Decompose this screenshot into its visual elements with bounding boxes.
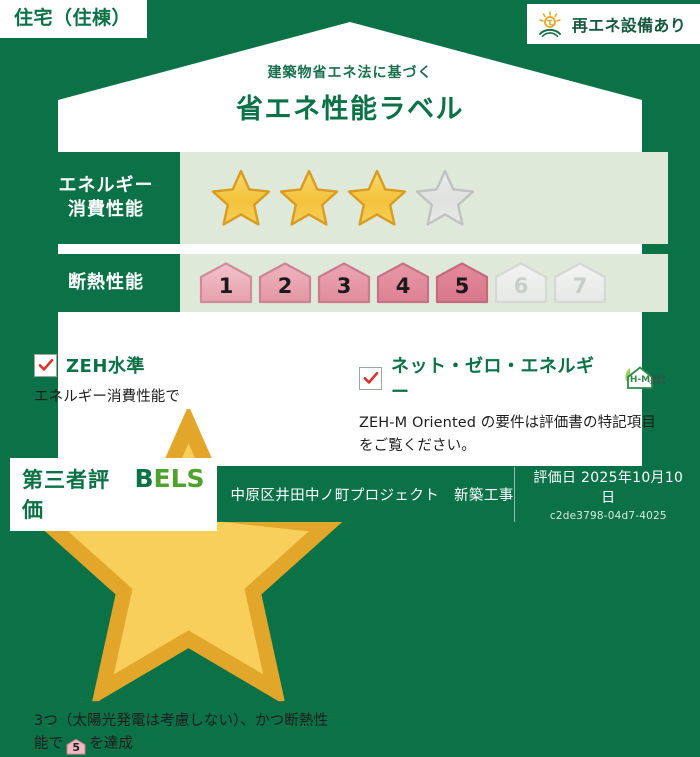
zeh-sections: ZEH水準 エネルギー消費性能で3つ（太陽光発電は考慮しない）、かつ断熱性能で5… [34, 352, 666, 757]
zeh-standard-title: ZEH水準 [66, 352, 145, 378]
row-energy-label-line1: エネルギー [59, 174, 154, 198]
insulation-house-empty: 6 [493, 261, 549, 305]
star-icon-filled [210, 168, 272, 228]
star-rating [180, 152, 668, 244]
net-zero-energy-block: ネット・ゼロ・エネルギー H-M ZEH-M Oriented ZEH-M Or… [359, 352, 666, 757]
insulation-house-empty: 7 [552, 261, 608, 305]
insulation-house-filled: 4 [375, 261, 431, 305]
star-icon-filled [346, 168, 408, 228]
net-zero-energy-title: ネット・ゼロ・エネルギー [391, 352, 611, 404]
insulation-house-filled: 2 [257, 261, 313, 305]
star-icon-filled [278, 168, 340, 228]
check-icon [34, 354, 57, 377]
zeh-standard-block: ZEH水準 エネルギー消費性能で3つ（太陽光発電は考慮しない）、かつ断熱性能で5… [34, 352, 341, 757]
heading-subtitle: 建築物省エネ法に基づく [0, 62, 700, 82]
net-zero-energy-header: ネット・ゼロ・エネルギー H-M ZEH-M Oriented [359, 352, 666, 404]
insulation-level-badge-value: 5 [65, 738, 87, 757]
net-zero-energy-description: ZEH-M Oriented の要件は評価書の特記項目をご覧ください。 [359, 412, 666, 459]
row-insulation-label-line1: 断熱性能 [68, 271, 144, 295]
renewable-energy-label: 再エネ設備あり [572, 12, 686, 36]
svg-text:H-M: H-M [630, 375, 650, 385]
insulation-house-filled: 1 [198, 261, 254, 305]
insulation-house-value: 1 [219, 276, 234, 305]
evaluation-code: c2de3798-04d7-4025 [529, 510, 688, 522]
row-energy-label: エネルギー 消費性能 [32, 152, 180, 244]
star-icon [35, 689, 342, 705]
bels-chip: 第三者評価 BELS [10, 458, 217, 531]
row-insulation-performance: 断熱性能 1234567 [32, 254, 668, 312]
evaluation-date: 評価日 2025年10月10日 [529, 467, 688, 507]
bels-logo-first: B [134, 464, 153, 493]
zeh-m-oriented-logo: H-M ZEH-M Oriented [622, 363, 666, 393]
insulation-house-value: 2 [278, 276, 293, 305]
evaluation-info: 評価日 2025年10月10日 c2de3798-04d7-4025 [514, 467, 688, 522]
energy-performance-label: 住宅（住棟） 再エネ設備あり 建築物省エネ法に基づく 省エネ性能ラベル [0, 0, 700, 522]
metric-rows: エネルギー 消費性能 断熱性能 1234567 [32, 152, 668, 322]
building-type-chip: 住宅（住棟） [0, 0, 147, 38]
insulation-level-scale: 1234567 [180, 254, 668, 312]
building-type-label: 住宅（住棟） [14, 7, 131, 29]
insulation-house-filled: 5 [434, 261, 490, 305]
heading-title: 省エネ性能ラベル [0, 87, 700, 126]
bels-logo-rest: ELS [154, 464, 205, 493]
insulation-house-value: 3 [337, 276, 352, 305]
row-energy-consumption: エネルギー 消費性能 [32, 152, 668, 244]
insulation-house-value: 6 [514, 276, 529, 305]
bels-logo: BELS [134, 464, 204, 493]
renewable-energy-badge: 再エネ設備あり [527, 4, 700, 44]
insulation-house-value: 4 [396, 276, 411, 305]
zeh-desc-part3: を達成 [89, 736, 133, 752]
star-icon-empty [414, 168, 476, 228]
row-energy-label-line2: 消費性能 [68, 198, 144, 222]
insulation-house-value: 5 [455, 276, 470, 305]
check-icon [359, 367, 382, 390]
row-insulation-label: 断熱性能 [32, 254, 180, 312]
svg-text:Oriented: Oriented [649, 380, 666, 385]
zeh-desc-part1: エネルギー消費性能で [34, 389, 180, 405]
insulation-house-filled: 3 [316, 261, 372, 305]
zeh-standard-header: ZEH水準 [34, 352, 341, 378]
zeh-standard-description: エネルギー消費性能で3つ（太陽光発電は考慮しない）、かつ断熱性能で5を達成 [34, 386, 341, 757]
solar-sun-icon [537, 11, 565, 37]
insulation-level-badge: 5 [65, 738, 87, 755]
third-party-label: 第三者評価 [22, 464, 126, 524]
project-name: 中原区井田中ノ町プロジェクト 新築工事 [231, 484, 514, 505]
page-title: 建築物省エネ法に基づく 省エネ性能ラベル [0, 62, 700, 126]
insulation-house-value: 7 [573, 276, 588, 305]
footer-bar: 第三者評価 BELS 中原区井田中ノ町プロジェクト 新築工事 評価日 2025年… [0, 466, 700, 522]
